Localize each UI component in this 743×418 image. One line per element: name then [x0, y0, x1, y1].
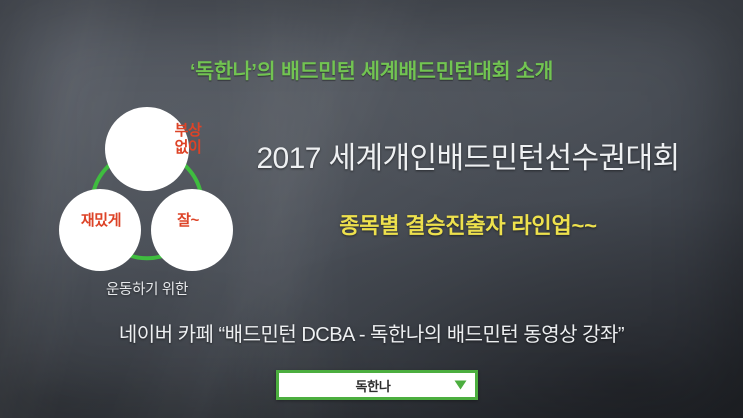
circle-left	[59, 189, 141, 271]
slide-main-title: 2017 세계개인배드민턴선수권대회	[238, 133, 698, 177]
presentation-slide: ‘독한나’의 배드민턴 세계배드민턴대회 소개 부상 없이 재밌게 잘~ 운동하…	[0, 0, 743, 418]
circle-right	[151, 189, 233, 271]
circle-left-label: 재밌게	[59, 213, 143, 230]
circle-top-label: 부상 없이	[146, 123, 230, 157]
cafe-reference-line: 네이버 카페 “배드민턴 DCBA - 독한나의 배드민턴 동영상 강좌”	[0, 318, 743, 347]
channel-dropdown-label: 독한나	[279, 376, 445, 395]
circle-right-label: 잘~	[146, 213, 230, 230]
chevron-down-icon[interactable]	[445, 380, 475, 390]
diagram-caption: 운동하기 위한	[52, 278, 242, 299]
slide-headline: ‘독한나’의 배드민턴 세계배드민턴대회 소개	[0, 54, 743, 84]
channel-dropdown[interactable]: 독한나	[276, 370, 478, 400]
slide-subtitle: 종목별 결승진출자 라인업~~	[238, 208, 698, 240]
three-circle-diagram: 부상 없이 재밌게 잘~	[52, 100, 242, 280]
